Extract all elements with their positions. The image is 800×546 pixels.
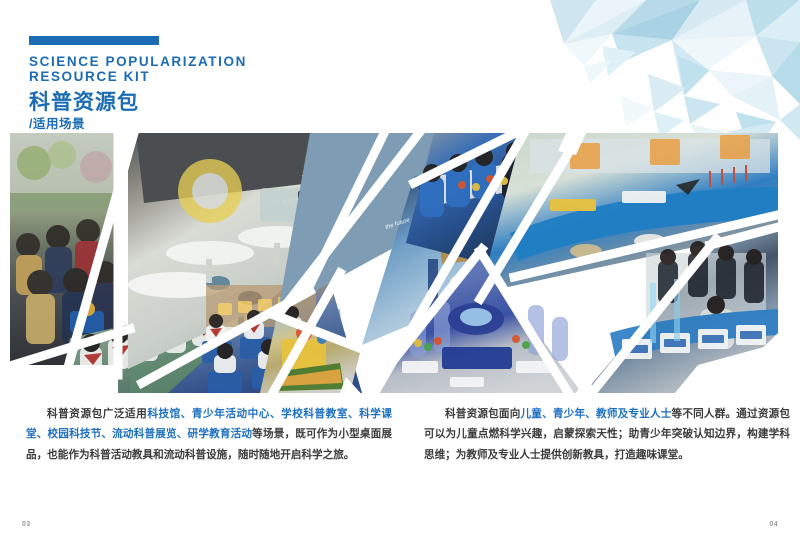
page-subtitle: /适用场景 [29,117,359,132]
page-number-right: 04 [769,521,778,528]
left-seg-0: 科普资源包广泛适用 [47,408,147,420]
right-copy-column: 科普资源包面向儿童、青少年、教师及专业人士等不同人群。通过资源包可以为儿童点燃科… [424,404,790,465]
accent-bar [29,36,159,45]
kicker-english: SCIENCE POPULARIZATION RESOURCE KIT [29,55,359,84]
photo-collage: The magic world 神奇世界 [10,133,778,393]
right-seg-1-highlight: 儿童、青少年、教师及专业人士 [521,408,672,420]
page-header: SCIENCE POPULARIZATION RESOURCE KIT 科普资源… [29,36,359,132]
left-copy-column: 科普资源包广泛适用科技馆、青少年活动中心、学校科普教室、科学课堂、校园科技节、流… [26,404,392,465]
left-paragraph: 科普资源包广泛适用科技馆、青少年活动中心、学校科普教室、科学课堂、校园科技节、流… [26,404,392,465]
brochure-page: SCIENCE POPULARIZATION RESOURCE KIT 科普资源… [0,0,800,546]
page-title: 科普资源包 [29,91,359,114]
low-poly-decoration [550,0,800,140]
right-seg-0: 科普资源包面向 [445,408,521,420]
right-paragraph: 科普资源包面向儿童、青少年、教师及专业人士等不同人群。通过资源包可以为儿童点燃科… [424,404,790,465]
page-number-left: 03 [22,521,31,528]
